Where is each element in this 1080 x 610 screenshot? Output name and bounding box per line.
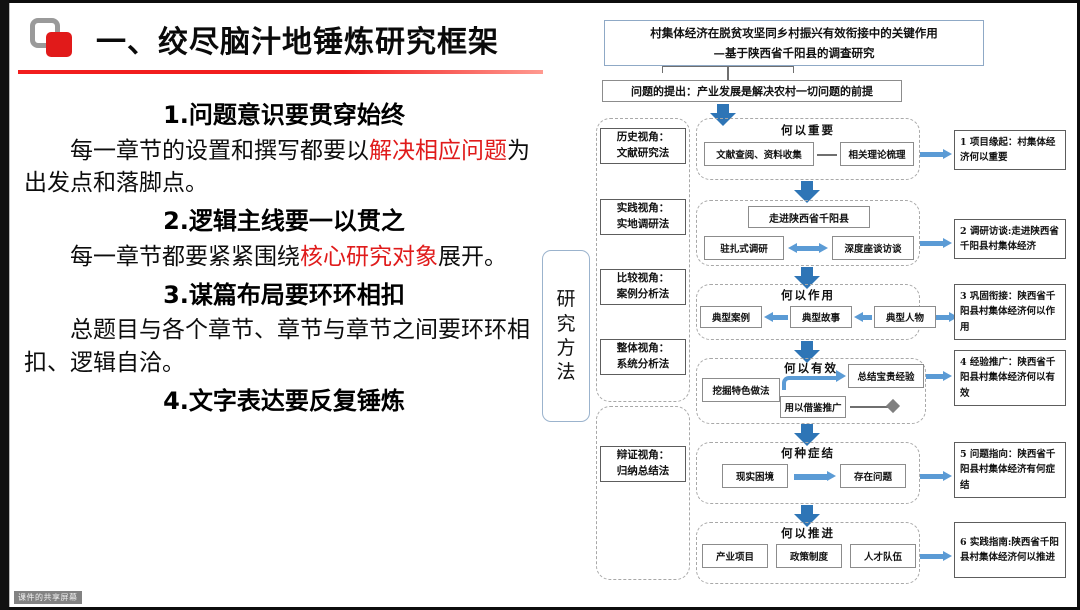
section-5-node-2: 存在问题 [840,464,906,488]
outcome-box-6: 6 实践指南:陕西省千阳县村集体经济何以推进 [954,522,1066,578]
section-5-node-1: 现实困境 [722,464,788,488]
section-1-to-outcome-1-arrow [920,149,952,159]
method-box-1-line1: 历史视角： [617,130,670,146]
method-box-4-line2: 系统分析法 [617,357,670,373]
section-5-node-2-text: 存在问题 [854,469,892,483]
title-bracket-stem [727,66,729,80]
method-box-3-line2: 案例分析法 [617,287,670,303]
method-box-5-line2: 归纳总结法 [617,464,670,480]
section-1-node-2: 相关理论梳理 [840,142,914,166]
outcome-box-5-text: 5 问题指向：陕西省千阳县村集体经济有何症结 [960,447,1060,493]
method-box-2-line1: 实践视角： [617,201,670,217]
method-box-2: 实践视角： 实地调研法 [600,199,686,235]
section-2-node-3-text: 深度座谈访谈 [844,241,901,255]
logo-square-shape [46,32,72,57]
section-4-tail-line [850,406,890,408]
section-5-node-1-text: 现实困境 [736,469,774,483]
section-1-node-2-text: 相关理论梳理 [848,147,905,161]
section-2-to-outcome-2-arrow [920,238,952,248]
point-body-2-highlight: 核心研究对象 [300,244,438,270]
point-heading-4: 4.文字表达要反复锤炼 [24,384,544,419]
method-box-5-line1: 辩证视角： [617,448,670,464]
section-6-node-3-text: 人才队伍 [864,549,902,563]
diagram-main-title-text: 村集体经济在脱贫攻坚同乡村振兴有效衔接中的关键作用 —基于陕西省千阳县的调查研究 [650,23,938,63]
method-label-char-3: 法 [556,360,575,384]
point-heading-3: 3.谋篇布局要环环相扣 [24,278,544,313]
methods-group-lower [596,406,690,580]
research-framework-diagram: 村集体经济在脱贫攻坚同乡村振兴有效衔接中的关键作用 —基于陕西省千阳县的调查研究… [536,14,1074,598]
point-body-1: 每一章节的设置和撰写都要以解决相应问题为出发点和落脚点。 [24,135,544,200]
page-title: 一、绞尽脑汁地锤炼研究框架 [96,17,499,61]
method-box-3: 比较视角： 案例分析法 [600,269,686,305]
outcome-box-3: 3 巩固衔接：陕西省千阳县村集体经济何以作用 [954,284,1066,340]
section-3-label: 何以作用 [696,287,920,303]
section-3-node-3-text: 典型人物 [886,310,924,324]
section-3-node-3: 典型人物 [874,306,936,328]
outcome-box-6-text: 6 实践指南:陕西省千阳县村集体经济何以推进 [960,535,1060,565]
slide-inner-border [9,3,10,607]
brand-logo-icon [30,18,76,60]
method-box-3-line1: 比较视角： [617,271,670,287]
method-label-char-1: 究 [556,312,575,336]
section-1-node-1-text: 文献查阅、资料收集 [716,147,802,161]
outcome-box-4-text: 4 经验推广：陕西省千阳县村集体经济何以有效 [960,355,1060,401]
section-6-node-2: 政策制度 [776,544,842,568]
section-4-node-1: 挖掘特色做法 [702,378,780,402]
method-box-2-line2: 实地调研法 [617,217,670,233]
point-body-2-plain-b: 展开。 [438,244,507,270]
section-3-node-2-text: 典型故事 [802,310,840,324]
section-6-label: 何以推进 [696,525,920,541]
title-underline-rule [18,70,543,74]
section-3-node-1: 典型案例 [700,306,762,328]
section-5-to-outcome-5-arrow [920,471,952,481]
outcome-box-4: 4 经验推广：陕西省千阳县村集体经济何以有效 [954,350,1066,406]
section-6-node-1: 产业项目 [702,544,768,568]
section-5-label: 何种症结 [696,445,920,461]
slide-canvas: 一、绞尽脑汁地锤炼研究框架 1.问题意识要贯穿始终 每一章节的设置和撰写都要以解… [0,0,1080,610]
point-body-1-plain-a: 每一章节的设置和撰写都要以 [70,138,369,164]
point-body-2-plain-a: 每一章节都要紧紧围绕 [70,244,300,270]
diagram-main-title-line1: 村集体经济在脱贫攻坚同乡村振兴有效衔接中的关键作用 [650,23,938,43]
section-4-node-3-text: 用以借鉴推广 [784,400,841,414]
method-box-4-line1: 整体视角： [617,341,670,357]
slide-frame-top [0,0,1080,3]
diagram-main-title-box: 村集体经济在脱贫攻坚同乡村振兴有效衔接中的关键作用 —基于陕西省千阳县的调查研究 [604,20,984,66]
section-3-node-1-text: 典型案例 [712,310,750,324]
slide-left-band [0,0,9,610]
section-5-arrow-middle [794,471,836,483]
research-method-label: 研 究 方 法 [542,250,590,422]
section-6-node-2-text: 政策制度 [790,549,828,563]
section-6-to-outcome-6-arrow [920,551,952,561]
point-body-2: 每一章节都要紧紧围绕核心研究对象展开。 [24,241,544,274]
method-label-char-0: 研 [556,287,575,311]
section-3-arrow-left-1 [764,312,788,322]
section-3-arrow-left-2 [854,312,872,322]
section-6-node-1-text: 产业项目 [716,549,754,563]
section-4-elbow-arrowhead [836,370,846,382]
section-4-node-2: 总结宝贵经验 [848,364,924,388]
section-2-node-2-text: 驻扎式调研 [720,241,768,255]
section-1-node-1: 文献查阅、资料收集 [704,142,814,166]
slide-header: 一、绞尽脑汁地锤炼研究框架 [26,12,556,68]
point-heading-2: 2.逻辑主线要一以贯之 [24,204,544,239]
section-6-node-3: 人才队伍 [850,544,916,568]
section-2-node-3: 深度座谈访谈 [832,236,914,260]
section-1-label: 何以重要 [696,122,920,138]
method-box-1: 历史视角： 文献研究法 [600,128,686,164]
outcome-box-2: 2 调研访谈:走进陕西省千阳县村集体经济 [954,219,1066,259]
method-label-char-2: 方 [556,336,575,360]
point-body-3: 总题目与各个章节、章节与章节之间要环环相扣、逻辑自洽。 [24,314,544,379]
section-2-node-1-text: 走进陕西省千阳县 [769,210,849,225]
section-2-node-1: 走进陕西省千阳县 [748,206,870,228]
outcome-box-3-text: 3 巩固衔接：陕西省千阳县村集体经济何以作用 [960,289,1060,335]
method-box-1-line2: 文献研究法 [617,146,670,162]
watermark-label: 课件的共享屏幕 [14,591,82,604]
method-box-5: 辩证视角： 归纳总结法 [600,446,686,482]
section-4-node-2-text: 总结宝贵经验 [857,369,914,383]
section-2-bidirectional-arrow [788,243,828,254]
outcome-box-1: 1 项目缘起：村集体经济何以重要 [954,130,1066,170]
outcome-box-5: 5 问题指向：陕西省千阳县村集体经济有何症结 [954,442,1066,498]
outcome-box-1-text: 1 项目缘起：村集体经济何以重要 [960,135,1060,165]
section-3-node-2: 典型故事 [790,306,852,328]
diagram-main-title-line2: —基于陕西省千阳县的调查研究 [650,43,938,63]
section-2-node-2: 驻扎式调研 [704,236,784,260]
content-list: 1.问题意识要贯穿始终 每一章节的设置和撰写都要以解决相应问题为出发点和落脚点。… [24,98,544,420]
section-4-elbow-connector [782,376,838,390]
section-1-connector-line [817,154,837,156]
point-heading-1: 1.问题意识要贯穿始终 [24,98,544,133]
section-4-to-outcome-4-arrow [926,371,952,381]
outcome-box-2-text: 2 调研访谈:走进陕西省千阳县村集体经济 [960,224,1060,254]
point-body-1-highlight: 解决相应问题 [369,138,507,164]
method-box-4: 整体视角： 系统分析法 [600,339,686,375]
diagram-premise-box: 问题的提出：产业发展是解决农村一切问题的前提 [602,80,902,102]
diagram-premise-text: 问题的提出：产业发展是解决农村一切问题的前提 [631,83,873,99]
section-4-node-1-text: 挖掘特色做法 [712,383,769,397]
section-4-node-3: 用以借鉴推广 [780,396,846,418]
